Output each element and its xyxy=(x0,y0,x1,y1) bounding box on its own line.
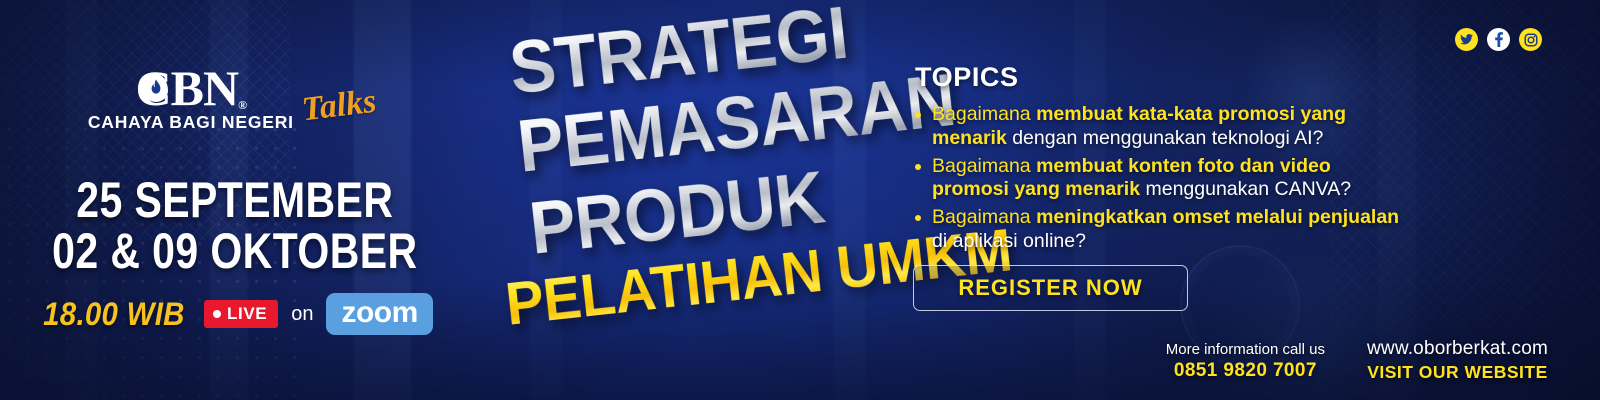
topic-item: Bagaimana meningkatkan omset melalui pen… xyxy=(915,206,1405,254)
cbn-logo-block: CBN® CAHAYA BAGI NEGERI xyxy=(88,65,294,133)
social-links xyxy=(1455,28,1542,51)
cbn-registered-mark: ® xyxy=(238,98,246,112)
topic-item: Bagaimana membuat kata-kata promosi yang… xyxy=(915,103,1405,151)
instagram-icon[interactable] xyxy=(1519,28,1542,51)
live-badge: LIVE xyxy=(204,300,278,328)
zoom-logo-badge: zoom xyxy=(326,293,432,335)
contact-phone[interactable]: 0851 9820 7007 xyxy=(1166,359,1325,384)
topic-text-run: dengan menggunakan teknologi AI? xyxy=(1007,127,1324,149)
topic-text-run: Bagaimana xyxy=(932,206,1036,228)
facebook-icon[interactable] xyxy=(1487,28,1510,51)
main-title: STRATEGI PEMASARAN PRODUK PELATIHAN UMKM xyxy=(498,14,898,384)
website-block: www.oborberkat.com VISIT OUR WEBSITE xyxy=(1367,337,1548,384)
topic-text-run: di aplikasi online? xyxy=(932,230,1086,252)
contact-block: More information call us 0851 9820 7007 xyxy=(1166,340,1325,384)
topic-text-run: Bagaimana xyxy=(932,155,1036,177)
talks-subbrand: Talks xyxy=(300,83,378,130)
topic-text-run: menggunakan CANVA? xyxy=(1140,178,1351,200)
left-info-column: CBN® CAHAYA BAGI NEGERI Talks 25 SEPTEMB… xyxy=(0,0,470,400)
event-time: 18.00 WIB xyxy=(43,296,185,333)
twitter-icon[interactable] xyxy=(1455,28,1478,51)
footer-info: More information call us 0851 9820 7007 … xyxy=(1166,337,1548,384)
date-line-2: 02 & 09 OKTOBER xyxy=(52,228,417,275)
topic-text-run: meningkatkan omset melalui penjualan xyxy=(1036,206,1399,228)
topics-section: TOPICS Bagaimana membuat kata-kata promo… xyxy=(915,62,1405,258)
time-and-platform-row: 18.00 WIB LIVE on zoom xyxy=(37,293,433,335)
event-dates: 25 SEPTEMBER 02 & 09 OKTOBER xyxy=(12,177,458,275)
topic-text-run: Bagaimana xyxy=(932,103,1036,125)
cbn-letters: CBN® xyxy=(136,65,247,111)
webinar-banner: CBN® CAHAYA BAGI NEGERI Talks 25 SEPTEMB… xyxy=(0,0,1600,400)
topic-item: Bagaimana membuat konten foto dan video … xyxy=(915,155,1405,203)
register-now-button[interactable]: REGISTER NOW xyxy=(913,265,1188,311)
on-label: on xyxy=(291,303,313,326)
topics-heading: TOPICS xyxy=(915,62,1405,93)
contact-label: More information call us xyxy=(1166,340,1325,360)
cbn-wordmark: CBN® xyxy=(136,65,247,111)
topics-list: Bagaimana membuat kata-kata promosi yang… xyxy=(915,103,1405,254)
zoom-wordmark: zoom xyxy=(341,298,417,328)
live-label: LIVE xyxy=(227,304,267,324)
brand-logo: CBN® CAHAYA BAGI NEGERI Talks xyxy=(88,65,376,133)
website-url[interactable]: www.oborberkat.com xyxy=(1367,337,1548,362)
date-line-1: 25 SEPTEMBER xyxy=(52,177,417,224)
flame-icon xyxy=(144,74,168,102)
website-cta[interactable]: VISIT OUR WEBSITE xyxy=(1367,361,1548,384)
live-dot-icon xyxy=(213,310,221,318)
